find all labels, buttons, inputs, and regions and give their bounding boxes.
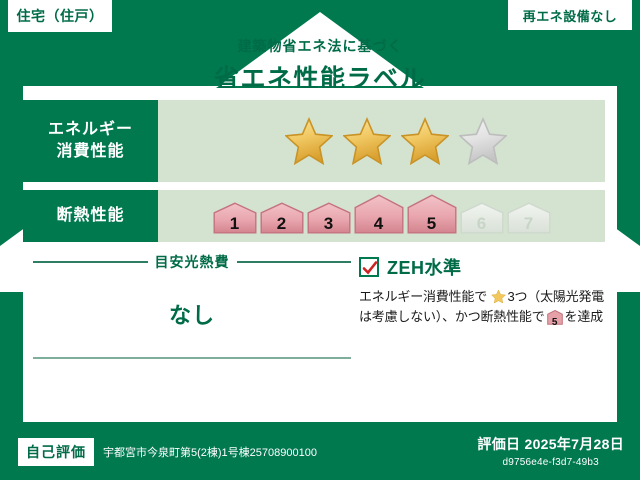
- checkmark-icon: [362, 260, 378, 276]
- insulation-level-number: 6: [460, 214, 504, 234]
- insulation-label-text: 断熱性能: [56, 205, 124, 227]
- energy-performance-row: エネルギー 消費性能: [23, 100, 605, 182]
- document-id: d9756e4e-f3d7-49b3: [477, 457, 624, 468]
- renewable-energy-tag: 再エネ設備なし: [508, 0, 632, 30]
- energy-label-line2: 消費性能: [56, 141, 124, 163]
- energy-rating-value: [158, 100, 605, 182]
- insulation-level-chips: 1234567: [213, 194, 551, 239]
- section-divider: [33, 357, 351, 359]
- zeh-title-row: ZEH水準: [359, 254, 611, 280]
- housing-type-tag-label: 住宅（住戸）: [17, 6, 104, 26]
- property-address: 宇都宮市今泉町第5(2棟)1号棟25708900100: [103, 444, 317, 460]
- zeh-desc-part4: を達成: [565, 309, 603, 324]
- insulation-level-number: 5: [407, 214, 457, 234]
- housing-type-tag: 住宅（住戸）: [8, 0, 112, 32]
- star-icon: [491, 289, 506, 304]
- star-icon-filled: [285, 117, 333, 165]
- utility-cost-heading-text: 目安光熱費: [155, 252, 230, 272]
- heading-rule-left: [33, 261, 148, 263]
- insulation-level-chip: 7: [507, 202, 551, 239]
- energy-label-line1: エネルギー: [48, 119, 133, 141]
- insulation-chip-inline: 5: [547, 310, 563, 331]
- utility-cost-heading: 目安光熱費: [33, 252, 351, 272]
- energy-performance-label: エネルギー 消費性能: [23, 100, 158, 182]
- zeh-desc-part3: は考慮しない）、かつ断熱性能で: [359, 309, 545, 324]
- star-icon-filled: [401, 117, 449, 165]
- zeh-description: エネルギー消費性能で 3つ（太陽光発電 は考慮しない）、かつ断熱性能で 5 を達…: [359, 287, 611, 331]
- star-icon-empty: [459, 117, 507, 165]
- header-subtitle: 建築物省エネ法に基づく: [0, 36, 640, 56]
- insulation-level-number: 2: [260, 214, 304, 234]
- insulation-level-number: 1: [213, 214, 257, 234]
- insulation-rating-value: 1234567: [158, 190, 605, 242]
- insulation-level-number: 4: [354, 214, 404, 234]
- insulation-level-chip: 4: [354, 194, 404, 239]
- zeh-title-text: ZEH水準: [387, 254, 462, 280]
- insulation-performance-row: 断熱性能 1234567: [23, 190, 605, 242]
- zeh-desc-part2: 3つ（太陽光発電: [507, 289, 604, 304]
- zeh-checkbox[interactable]: [359, 257, 379, 277]
- insulation-performance-label: 断熱性能: [23, 190, 158, 242]
- lower-section: 目安光熱費 なし ZEH水準 エネルギー消費性能で: [23, 252, 617, 422]
- self-evaluation-badge: 自己評価: [18, 438, 94, 466]
- insulation-level-chip: 3: [307, 202, 351, 239]
- label-header: 建築物省エネ法に基づく 省エネ性能ラベル: [0, 36, 640, 95]
- insulation-level-chip: 5: [407, 194, 457, 239]
- insulation-level-number: 7: [507, 214, 551, 234]
- evaluation-date: 評価日 2025年7月28日: [477, 434, 624, 454]
- heading-rule-right: [237, 261, 352, 263]
- footer-left: 自己評価 宇都宮市今泉町第5(2棟)1号棟25708900100: [18, 438, 317, 466]
- zeh-standard-block: ZEH水準 エネルギー消費性能で 3つ（太陽光発電 は考慮しない）、かつ断熱性能…: [359, 254, 611, 331]
- insulation-level-number: 3: [307, 214, 351, 234]
- insulation-chip-inline-number: 5: [547, 315, 563, 331]
- energy-performance-label: 住宅（住戸） 再エネ設備なし 建築物省エネ法に基づく 省エネ性能ラベル エネルギ…: [0, 0, 640, 480]
- footer-right: 評価日 2025年7月28日 d9756e4e-f3d7-49b3: [477, 434, 624, 468]
- utility-cost-value: なし: [33, 298, 351, 330]
- insulation-level-chip: 1: [213, 202, 257, 239]
- star-icon-filled: [343, 117, 391, 165]
- star-rating: [285, 117, 507, 165]
- insulation-level-chip: 2: [260, 202, 304, 239]
- utility-cost-block: 目安光熱費 なし: [33, 252, 351, 330]
- insulation-level-chip: 6: [460, 202, 504, 239]
- content-panel: エネルギー 消費性能 断熱性能 1234567 目安光熱費: [23, 88, 617, 422]
- zeh-desc-part1: エネルギー消費性能で: [359, 289, 487, 304]
- renewable-energy-tag-label: 再エネ設備なし: [523, 6, 618, 25]
